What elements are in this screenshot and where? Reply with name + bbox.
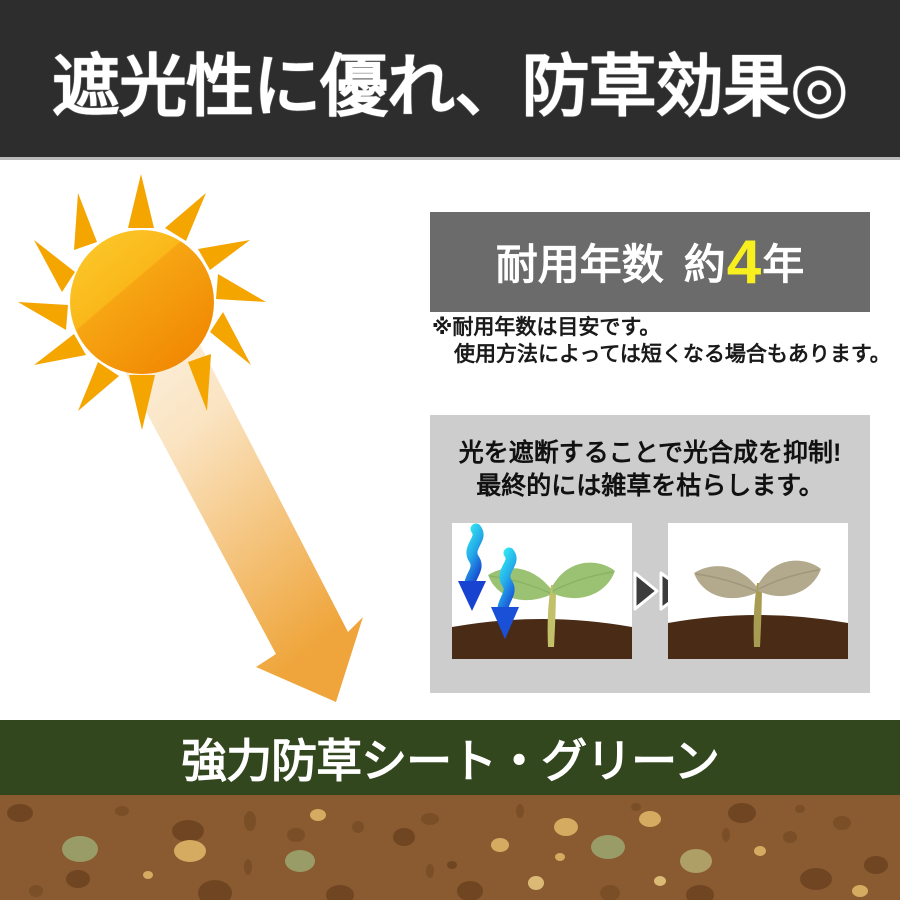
durability-approx: 約 — [684, 241, 726, 288]
durability-unit: 年 — [762, 241, 804, 288]
withered-plant-svg — [668, 523, 848, 659]
page-title: 遮光性に優れ、防草効果◎ — [0, 0, 900, 160]
effect-heading-line2: 最終的には雑草を枯らします。 — [430, 470, 870, 503]
healthy-plant-svg — [452, 523, 632, 659]
soil-texture-svg — [0, 795, 900, 900]
before-after-row — [452, 523, 848, 659]
durability-note-line2: 使用方法によっては短くなる場合もあります。 — [432, 341, 882, 368]
durability-box: 耐用年数約4年 — [430, 212, 870, 312]
infographic-page: 遮光性に優れ、防草効果◎ — [0, 0, 900, 900]
sun-beam-svg — [18, 162, 418, 722]
sun-illustration — [18, 162, 418, 722]
durability-note: ※耐用年数は目安です。 使用方法によっては短くなる場合もあります。 — [432, 314, 882, 369]
durability-label: 耐用年数 — [496, 241, 664, 288]
header-band: 遮光性に優れ、防草効果◎ — [0, 0, 900, 160]
sun-body-icon — [70, 230, 214, 374]
panel-healthy-plant — [452, 523, 632, 659]
effect-panel: 光を遮断することで光合成を抑制! 最終的には雑草を枯らします。 — [430, 415, 870, 693]
product-name-band: 強力防草シート・グリーン — [0, 720, 900, 795]
product-name: 強力防草シート・グリーン — [181, 725, 719, 791]
panel-withered-plant — [668, 523, 848, 659]
durability-note-line1: ※耐用年数は目安です。 — [432, 316, 660, 339]
soil-shape — [452, 619, 632, 659]
effect-heading: 光を遮断することで光合成を抑制! 最終的には雑草を枯らします。 — [430, 437, 870, 504]
durability-text: 耐用年数約4年 — [496, 231, 805, 294]
soil-band — [0, 795, 900, 900]
effect-heading-line1: 光を遮断することで光合成を抑制! — [430, 437, 870, 470]
durability-number: 4 — [727, 228, 761, 297]
